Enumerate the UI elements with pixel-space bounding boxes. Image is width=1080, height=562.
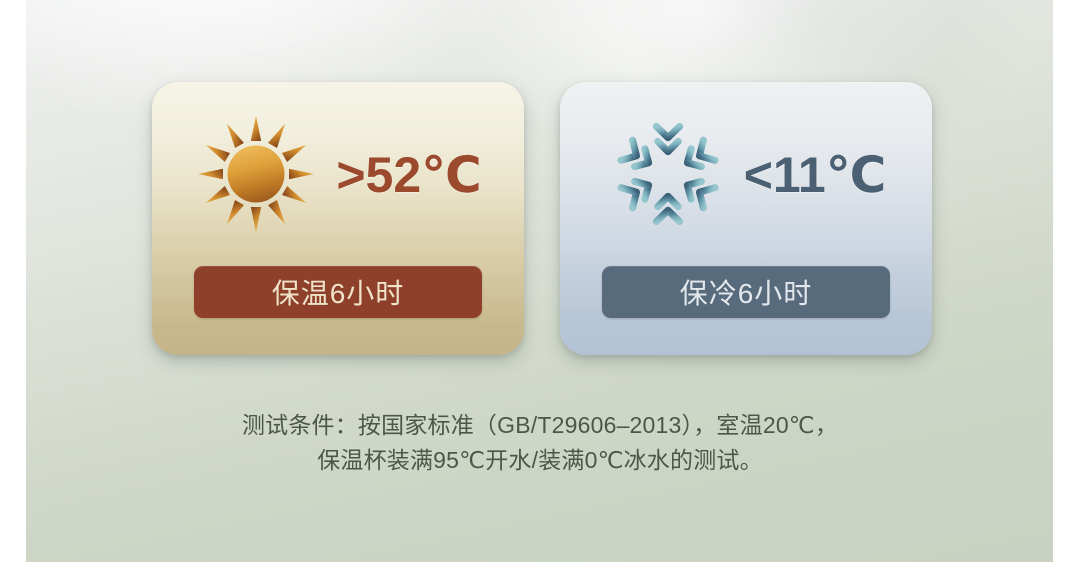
caption-line-2: 保温杯装满95℃开水/装满0℃冰水的测试。 xyxy=(0,443,1080,478)
test-conditions-caption: 测试条件：按国家标准（GB/T29606–2013），室温20℃， 保温杯装满9… xyxy=(0,408,1080,478)
hot-temperature-value: >52℃ xyxy=(336,150,481,200)
sun-icon xyxy=(194,112,318,236)
cold-retention-duration-badge[interactable]: 保冷6小时 xyxy=(602,266,890,318)
card-hot-header: >52℃ xyxy=(152,108,524,240)
snowflake-icon xyxy=(606,112,730,236)
card-cold-retention[interactable]: <11℃ 保冷6小时 xyxy=(560,82,932,355)
hot-retention-duration-badge[interactable]: 保温6小时 xyxy=(194,266,482,318)
card-cold-header: <11℃ xyxy=(560,108,932,240)
screenshot-stage: >52℃ 保温6小时 xyxy=(0,0,1080,562)
card-hot-retention[interactable]: >52℃ 保温6小时 xyxy=(152,82,524,355)
caption-line-1: 测试条件：按国家标准（GB/T29606–2013），室温20℃， xyxy=(0,408,1080,443)
cold-temperature-value: <11℃ xyxy=(744,150,887,200)
